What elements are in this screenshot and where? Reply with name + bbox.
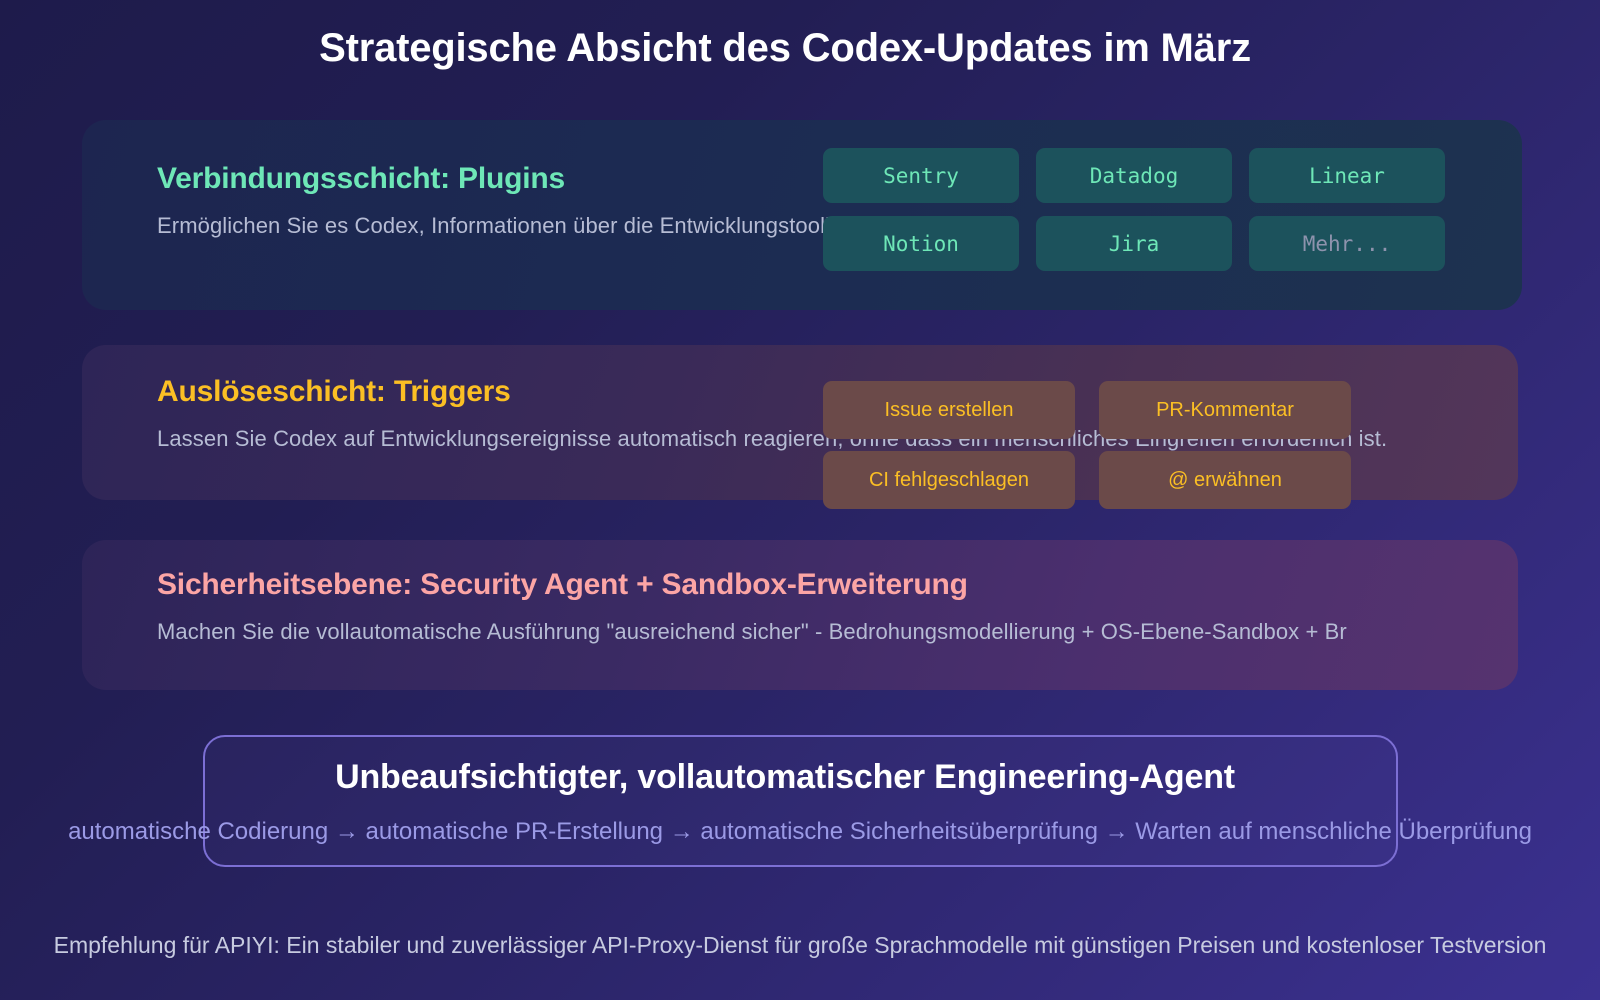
- plugin-tag-grid: Sentry Datadog Linear Notion Jira Mehr..…: [823, 148, 1445, 271]
- trigger-tag-ci-failed[interactable]: CI fehlgeschlagen: [823, 451, 1075, 509]
- slide-canvas: Strategische Absicht des Codex-Updates i…: [0, 0, 1600, 1000]
- plugin-tag-jira[interactable]: Jira: [1036, 216, 1232, 271]
- page-title: Strategische Absicht des Codex-Updates i…: [0, 26, 1570, 71]
- card-heading-security: Sicherheitsebene: Security Agent + Sandb…: [157, 568, 1518, 602]
- footer-note: Empfehlung für APIYI: Ein stabiler und z…: [0, 932, 1600, 959]
- trigger-tag-pr-comment[interactable]: PR-Kommentar: [1099, 381, 1351, 439]
- plugin-tag-sentry[interactable]: Sentry: [823, 148, 1019, 203]
- plugin-tag-notion[interactable]: Notion: [823, 216, 1019, 271]
- conclusion-highlight-box: [203, 735, 1398, 867]
- plugin-tag-more[interactable]: Mehr...: [1249, 216, 1445, 271]
- plugin-tag-datadog[interactable]: Datadog: [1036, 148, 1232, 203]
- layer-card-security: Sicherheitsebene: Security Agent + Sandb…: [82, 540, 1518, 690]
- conclusion-flow-text: automatische Codierung → automatische PR…: [0, 818, 1600, 846]
- plugin-tag-linear[interactable]: Linear: [1249, 148, 1445, 203]
- trigger-tag-grid: Issue erstellen PR-Kommentar CI fehlgesc…: [823, 381, 1351, 509]
- trigger-tag-issue-created[interactable]: Issue erstellen: [823, 381, 1075, 439]
- card-description-security: Machen Sie die vollautomatische Ausführu…: [157, 619, 1518, 645]
- trigger-tag-mention[interactable]: @ erwähnen: [1099, 451, 1351, 509]
- card-content-security: Sicherheitsebene: Security Agent + Sandb…: [82, 540, 1518, 645]
- conclusion-title: Unbeaufsichtigter, vollautomatischer Eng…: [0, 758, 1570, 797]
